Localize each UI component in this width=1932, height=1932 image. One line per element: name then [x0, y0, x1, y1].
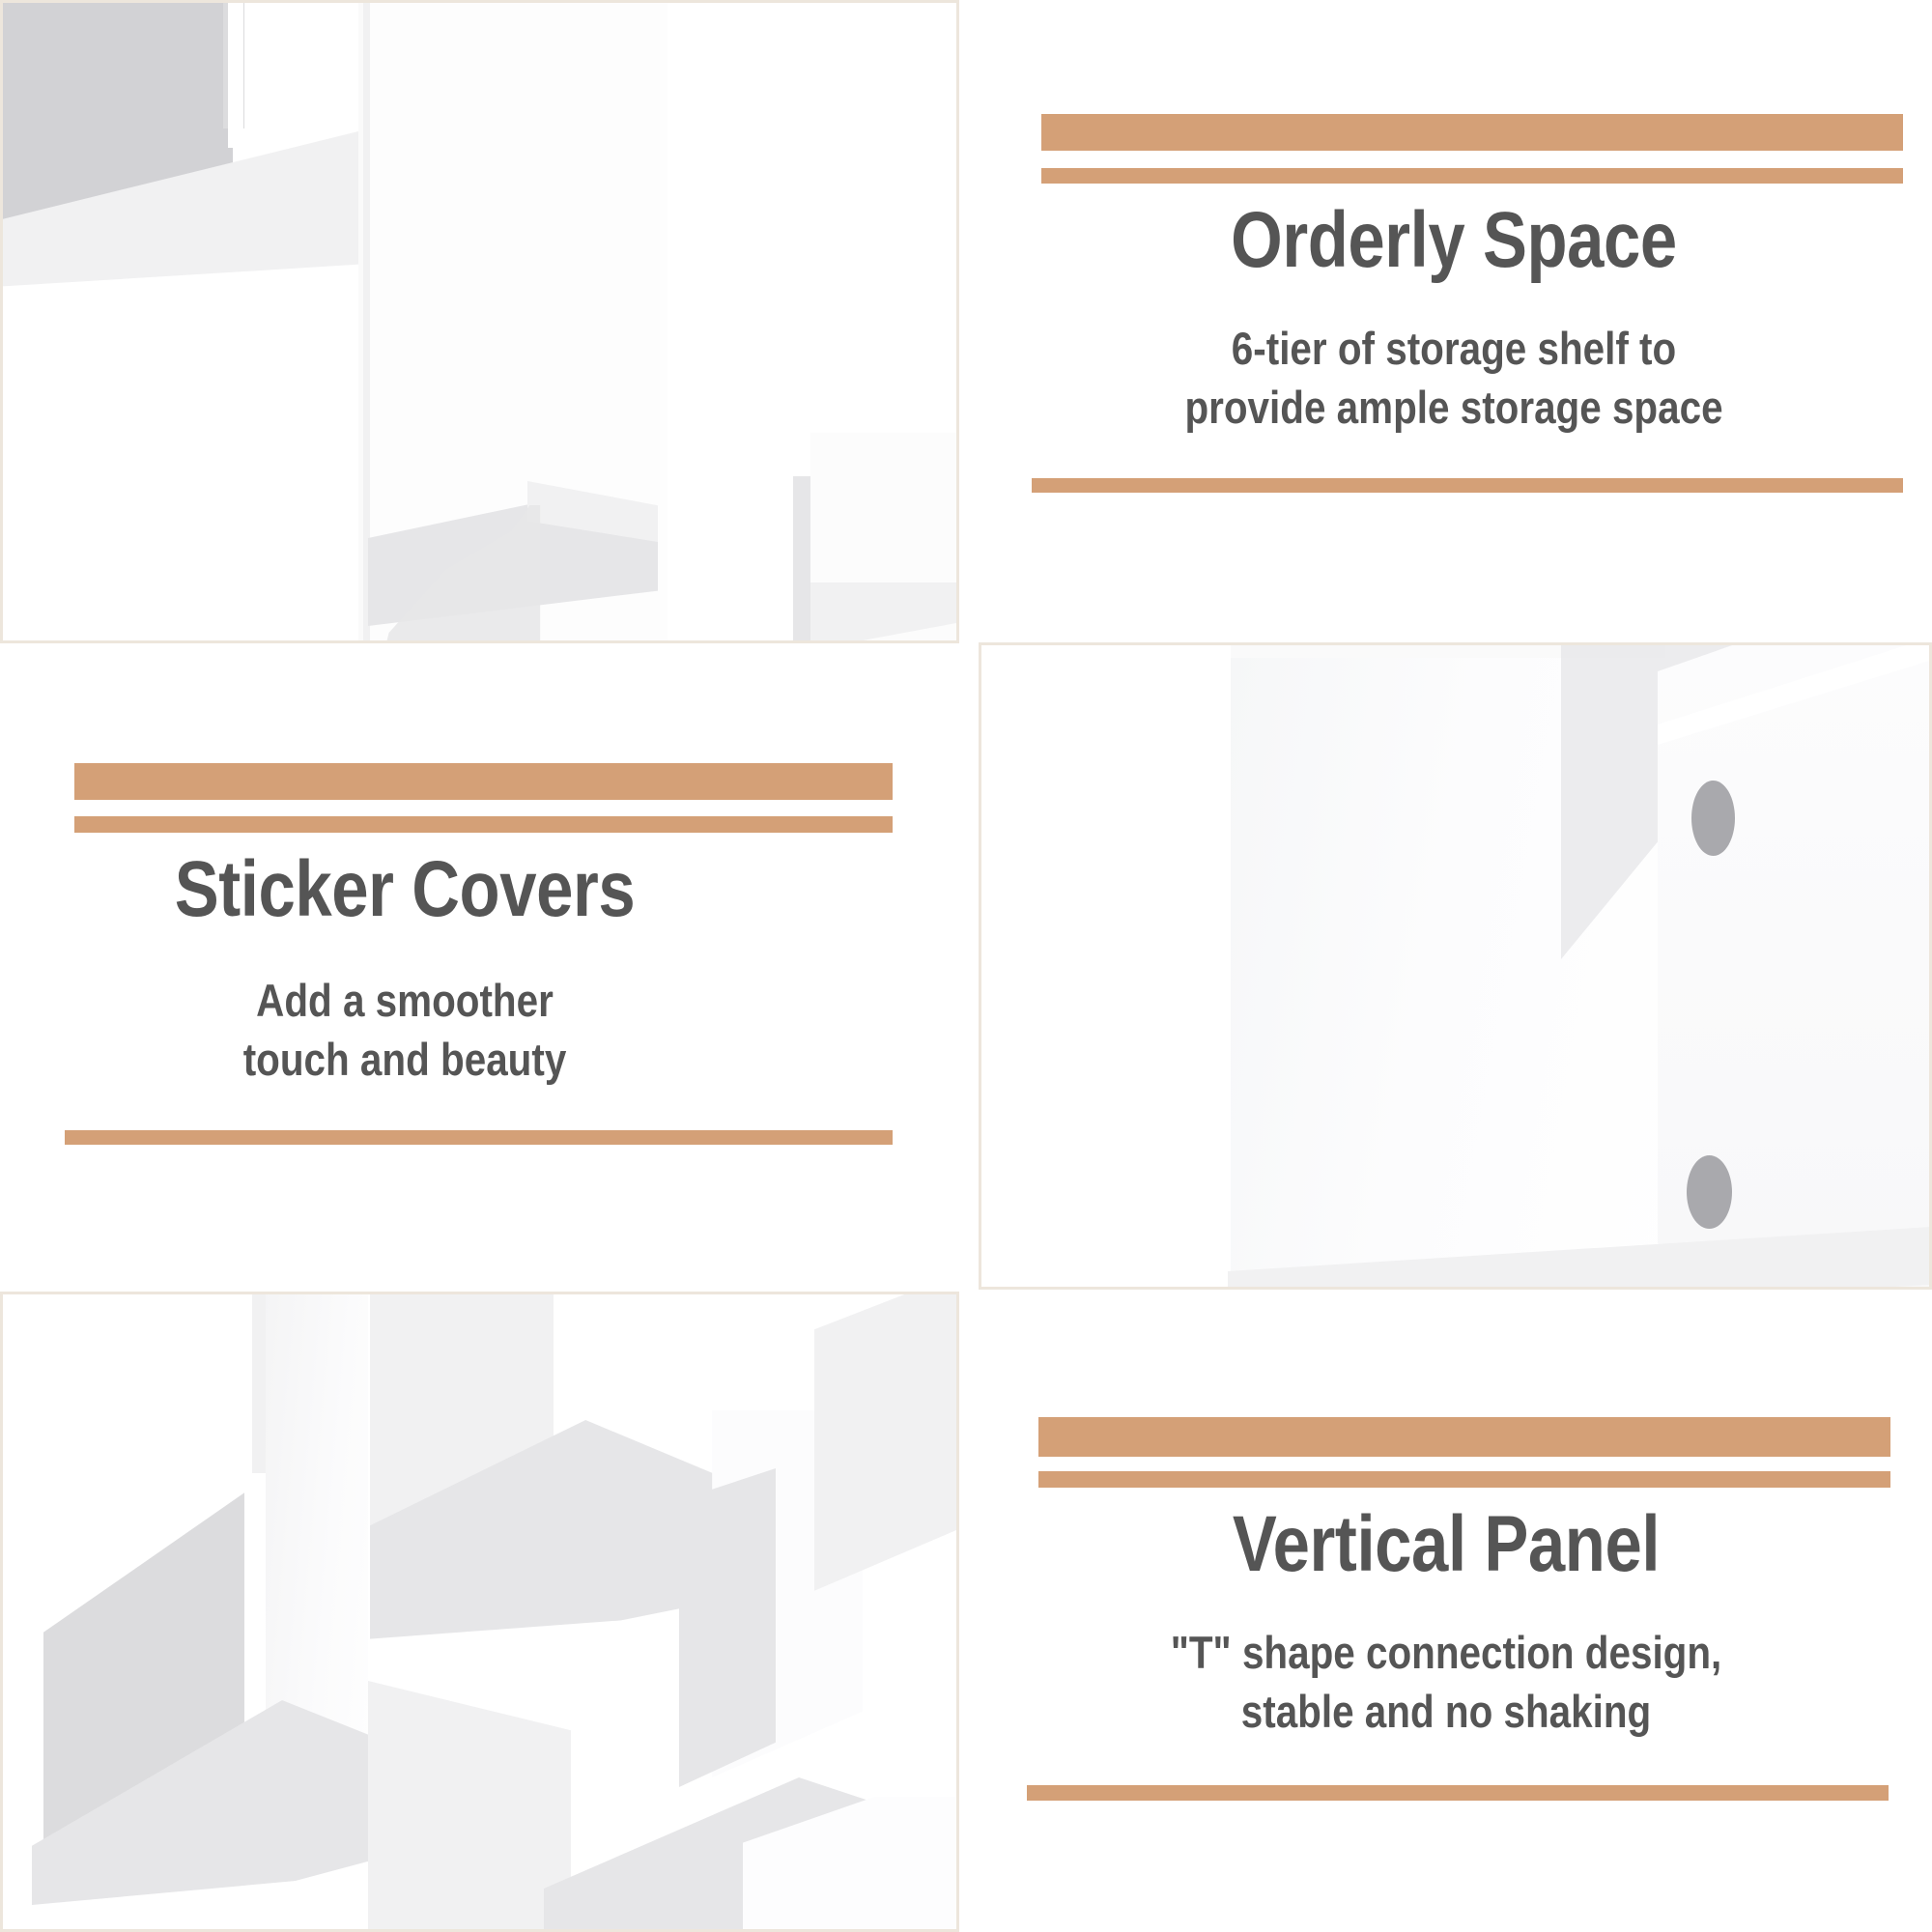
- feature-sticker-covers: Sticker Covers Add a smoother touch and …: [0, 657, 974, 1285]
- vertical-panel-subtitle-line-1: "T" shape connection design,: [1035, 1623, 1857, 1682]
- orderly-space-subtitle: 6-tier of storage shelf to provide ample…: [1042, 319, 1864, 437]
- sticker-covers-subtitle: Add a smoother touch and beauty: [0, 971, 823, 1089]
- orderly-space-subtitle-line-2: provide ample storage space: [1042, 378, 1864, 437]
- orderly-space-rule-top-thin: [1041, 168, 1903, 184]
- vertical-panel-title: Vertical Panel: [1044, 1505, 1848, 1584]
- vertical-panel-rule-bottom: [1027, 1785, 1889, 1801]
- photo-shelf-cubbies: [0, 1292, 959, 1932]
- photo-sticker-covers-canvas: [981, 645, 1929, 1287]
- sticker-covers-rule-bottom: [65, 1130, 893, 1145]
- photo-shelf-uprights: [0, 0, 959, 643]
- orderly-space-rule-top-thick: [1041, 114, 1903, 151]
- sticker-covers-rule-top-thin: [74, 816, 893, 833]
- sticker-covers-title: Sticker Covers: [0, 850, 813, 929]
- vertical-panel-rule-top-thick: [1038, 1417, 1890, 1457]
- sticker-cover-dot-upper: [1691, 781, 1735, 856]
- infographic-sheet: Orderly Space 6-tier of storage shelf to…: [0, 0, 1932, 1932]
- sticker-covers-rule-top-thick: [74, 763, 893, 800]
- feature-orderly-space: Orderly Space 6-tier of storage shelf to…: [976, 0, 1932, 643]
- orderly-space-title: Orderly Space: [1052, 201, 1856, 280]
- feature-vertical-panel: Vertical Panel "T" shape connection desi…: [976, 1304, 1932, 1932]
- photo-sticker-covers: [979, 642, 1932, 1290]
- orderly-space-subtitle-line-1: 6-tier of storage shelf to: [1042, 319, 1864, 378]
- vertical-panel-subtitle: "T" shape connection design, stable and …: [1035, 1623, 1857, 1741]
- sticker-covers-subtitle-line-2: touch and beauty: [0, 1030, 823, 1089]
- sticker-covers-subtitle-line-1: Add a smoother: [0, 971, 823, 1030]
- photo-shelf-uprights-canvas: [3, 3, 956, 640]
- vertical-panel-rule-top-thin: [1038, 1471, 1890, 1488]
- orderly-space-rule-bottom: [1032, 478, 1903, 493]
- sticker-cover-dot-lower: [1687, 1155, 1732, 1229]
- photo-shelf-cubbies-canvas: [3, 1294, 956, 1929]
- vertical-panel-subtitle-line-2: stable and no shaking: [1035, 1682, 1857, 1741]
